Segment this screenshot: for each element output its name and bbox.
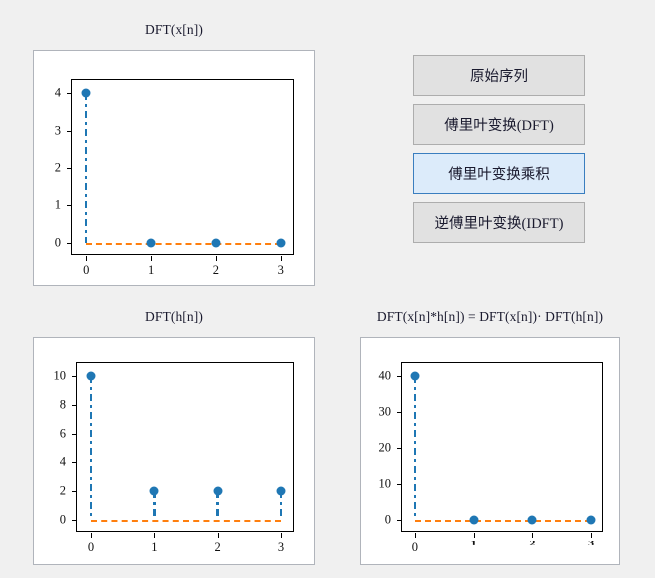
chart-baseline [415, 520, 591, 522]
x-axis-tick [151, 256, 152, 261]
x-axis-tick [91, 533, 92, 538]
y-axis-tick-label: 20 [357, 441, 391, 456]
data-point-marker [147, 238, 156, 247]
x-axis-tick [532, 533, 533, 538]
x-axis-tick-label: 1 [151, 540, 157, 555]
x-axis-tick [218, 533, 219, 538]
y-axis-tick [72, 405, 77, 406]
x-axis-tick [474, 533, 475, 538]
y-axis-tick [67, 131, 72, 132]
data-point-marker [410, 371, 419, 380]
y-axis-tick [397, 412, 402, 413]
data-point-marker [469, 516, 478, 525]
x-axis-tick-label: 0 [412, 540, 418, 555]
x-axis-tick-label: 2 [215, 540, 221, 555]
btn-original-sequence[interactable]: 原始序列 [413, 55, 585, 96]
y-axis-tick [67, 168, 72, 169]
y-axis-tick-label: 2 [27, 161, 61, 176]
x-axis-tick-label: 3 [278, 540, 284, 555]
data-point-marker [528, 516, 537, 525]
x-axis-tick [154, 533, 155, 538]
chart-baseline [86, 243, 280, 245]
button-label: 傅里叶变换(DFT) [444, 114, 554, 135]
y-axis-tick [397, 376, 402, 377]
x-axis-tick-label: 1 [471, 541, 477, 545]
stem-line [414, 376, 416, 521]
y-axis-tick [67, 243, 72, 244]
button-label: 傅里叶变换乘积 [448, 163, 550, 184]
plot-area-dft-xn: 012340123 [71, 79, 294, 255]
y-axis-tick-label: 4 [32, 455, 66, 470]
y-axis-tick-label: 6 [32, 426, 66, 441]
x-axis-tick [216, 256, 217, 261]
chart-panel-dft-hn[interactable]: 02468100123 [33, 337, 315, 565]
btn-dft-product[interactable]: 傅里叶变换乘积 [413, 153, 585, 194]
chart-title-dft-product: DFT(x[n]*h[n]) = DFT(x[n])· DFT(h[n]) [345, 309, 635, 325]
y-axis-tick [72, 520, 77, 521]
data-point-marker [276, 238, 285, 247]
data-point-marker [213, 487, 222, 496]
y-axis-tick [72, 434, 77, 435]
x-axis-tick [591, 533, 592, 538]
y-axis-tick [397, 520, 402, 521]
y-axis-tick-label: 0 [357, 513, 391, 528]
chart-title-dft-xn: DFT(x[n]) [33, 22, 315, 38]
y-axis-tick-label: 30 [357, 404, 391, 419]
x-axis-tick-label: 0 [88, 540, 94, 555]
y-axis-tick-label: 4 [27, 86, 61, 101]
btn-idft[interactable]: 逆傅里叶变换(IDFT) [413, 202, 585, 243]
y-axis-tick [397, 484, 402, 485]
plot-area-dft-hn: 02468100123 [76, 362, 294, 532]
chart-panel-dft-xn[interactable]: 012340123 [33, 50, 315, 286]
button-label: 逆傅里叶变换(IDFT) [435, 212, 564, 233]
chart-title-dft-hn: DFT(h[n]) [33, 309, 315, 325]
y-axis-tick-label: 40 [357, 368, 391, 383]
y-axis-tick-label: 10 [357, 477, 391, 492]
data-point-marker [277, 487, 286, 496]
x-axis-tick-label: 3 [278, 263, 284, 278]
plot-area-dft-product: 0102030400123 [401, 362, 603, 532]
y-axis-tick [397, 448, 402, 449]
x-axis-tick [86, 256, 87, 261]
stem-line [85, 93, 87, 243]
button-label: 原始序列 [470, 65, 528, 86]
btn-dft[interactable]: 傅里叶变换(DFT) [413, 104, 585, 145]
chart-baseline [91, 520, 281, 522]
x-axis-tick-label: 3 [588, 541, 594, 545]
data-point-marker [587, 516, 596, 525]
data-point-marker [82, 89, 91, 98]
y-axis-tick-label: 1 [27, 198, 61, 213]
data-point-marker [211, 238, 220, 247]
y-axis-tick-label: 10 [32, 368, 66, 383]
x-axis-tick [281, 533, 282, 538]
y-axis-tick [72, 462, 77, 463]
y-axis-tick [67, 93, 72, 94]
data-point-marker [86, 371, 95, 380]
chart-panel-dft-product[interactable]: 0102030400123 [360, 337, 620, 565]
application-window: DFT(x[n]) 012340123 DFT(h[n]) 0246810012… [0, 0, 655, 578]
data-point-marker [150, 487, 159, 496]
x-axis-tick [281, 256, 282, 261]
x-axis-tick-label: 2 [529, 541, 535, 545]
x-axis-tick-label: 0 [83, 263, 89, 278]
y-axis-tick-label: 3 [27, 123, 61, 138]
y-axis-tick-label: 0 [27, 235, 61, 250]
y-axis-tick-label: 2 [32, 484, 66, 499]
y-axis-tick-label: 8 [32, 397, 66, 412]
y-axis-tick [72, 376, 77, 377]
stem-line [90, 376, 92, 520]
x-axis-tick-label: 1 [148, 263, 154, 278]
x-axis-tick [415, 533, 416, 538]
y-axis-tick-label: 0 [32, 513, 66, 528]
x-axis-tick-label: 2 [213, 263, 219, 278]
y-axis-tick [67, 205, 72, 206]
y-axis-tick [72, 491, 77, 492]
